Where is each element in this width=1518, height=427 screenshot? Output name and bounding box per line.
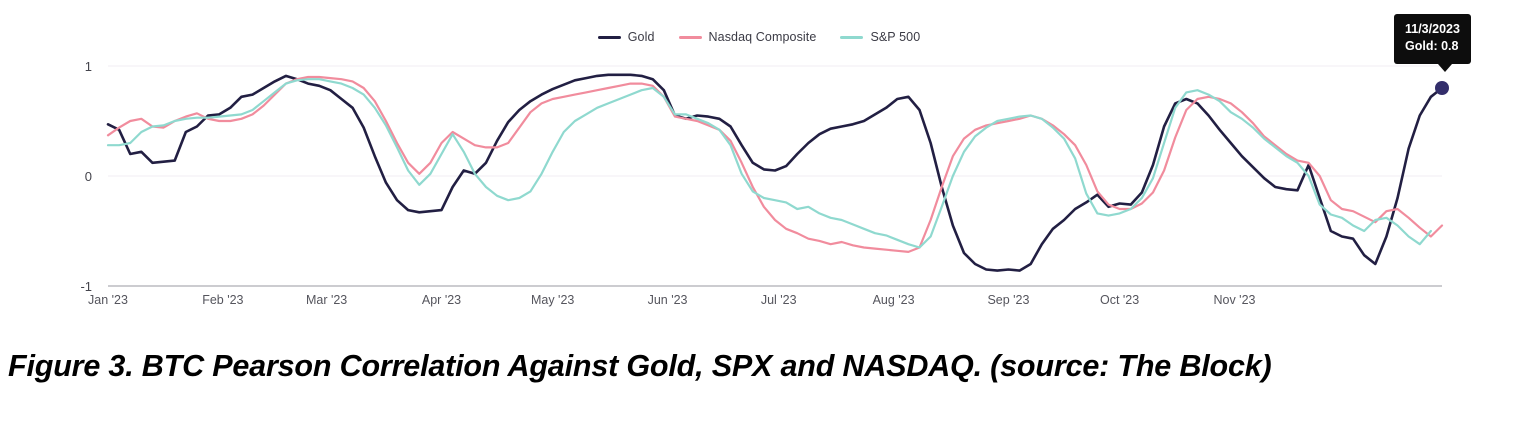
correlation-line-chart[interactable]: 10-1 Jan '23Feb '23Mar '23Apr '23May '23… [0, 0, 1518, 320]
x-tick-label: Apr '23 [422, 293, 461, 307]
x-tick-label: Jun '23 [648, 293, 688, 307]
figure-caption: Figure 3. BTC Pearson Correlation Agains… [8, 348, 1490, 384]
y-axis-ticks: 10-1 [80, 59, 92, 294]
x-tick-label: Feb '23 [202, 293, 243, 307]
figure-container: 10-1 Jan '23Feb '23Mar '23Apr '23May '23… [0, 0, 1518, 427]
highlight-dot[interactable] [1435, 81, 1449, 95]
x-tick-label: Nov '23 [1213, 293, 1255, 307]
x-tick-label: May '23 [531, 293, 574, 307]
chart-panel: 10-1 Jan '23Feb '23Mar '23Apr '23May '23… [0, 0, 1518, 320]
tooltip-date: 11/3/2023 [1405, 21, 1460, 38]
tooltip: 11/3/2023 Gold: 0.8 [1394, 14, 1471, 64]
series-line-gold [108, 75, 1442, 271]
x-tick-label: Mar '23 [306, 293, 347, 307]
x-tick-label: Oct '23 [1100, 293, 1139, 307]
tooltip-arrow [1438, 64, 1452, 72]
tooltip-value: Gold: 0.8 [1405, 38, 1460, 55]
x-tick-label: Sep '23 [987, 293, 1029, 307]
series-lines [108, 75, 1442, 271]
series-line-nasdaq-composite [108, 77, 1442, 252]
x-tick-label: Aug '23 [873, 293, 915, 307]
x-axis-ticks: Jan '23Feb '23Mar '23Apr '23May '23Jun '… [88, 293, 1255, 307]
gridlines [108, 66, 1442, 286]
x-tick-label: Jul '23 [761, 293, 797, 307]
y-tick-label: -1 [80, 279, 92, 294]
highlight-marker[interactable] [1435, 81, 1449, 95]
y-tick-label: 1 [85, 59, 92, 74]
y-tick-label: 0 [85, 169, 92, 184]
x-tick-label: Jan '23 [88, 293, 128, 307]
